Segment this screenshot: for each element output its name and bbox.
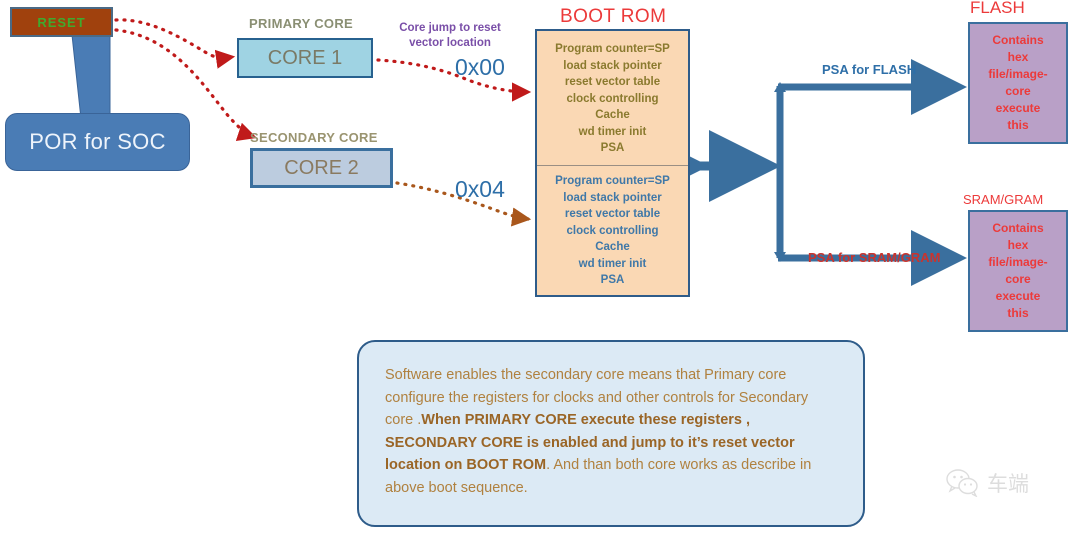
sram-box[interactable]: Contains hex file/image- core execute th… (968, 210, 1068, 332)
por-label: POR for SOC (29, 129, 166, 155)
note-text: Software enables the secondary core mean… (385, 364, 837, 499)
rom-line: reset vector table (565, 206, 660, 223)
bootrom-primary-section: Program counter=SP load stack pointer re… (537, 33, 688, 165)
core2-label: CORE 2 (284, 157, 358, 180)
bus-trunk-bottom-cap (774, 252, 786, 262)
primary-core-title: PRIMARY CORE (249, 16, 353, 31)
mem-line: Contains (992, 32, 1043, 49)
wechat-icon (946, 469, 980, 497)
mem-line: core (1005, 83, 1030, 100)
flash-box[interactable]: Contains hex file/image- core execute th… (968, 22, 1068, 144)
mem-line: file/image- (988, 254, 1047, 271)
bootrom-box[interactable]: Program counter=SP load stack pointer re… (535, 29, 690, 297)
bootrom-title: BOOT ROM (560, 6, 666, 28)
diagram-canvas: RESET POR for SOC PRIMARY CORE CORE 1 SE… (0, 0, 1080, 539)
core2-box[interactable]: CORE 2 (250, 148, 393, 188)
psa-flash-label: PSA for FLASH (822, 62, 916, 77)
mem-line: file/image- (988, 66, 1047, 83)
mem-line: this (1007, 117, 1028, 134)
rom-line: load stack pointer (563, 190, 661, 207)
rom-line: clock controlling (566, 91, 658, 108)
secondary-core-title: SECONDARY CORE (250, 130, 378, 145)
psa-sram-label: PSA for SRAM/GRAM (808, 250, 940, 265)
core1-box[interactable]: CORE 1 (237, 38, 373, 78)
sram-title: SRAM/GRAM (963, 192, 1043, 207)
mem-line: execute (996, 288, 1041, 305)
address-label-secondary: 0x04 (455, 176, 505, 203)
watermark-text: 车端 (987, 468, 1029, 498)
core1-to-bootrom-arrow (378, 60, 528, 92)
flash-title: FLASH (970, 0, 1025, 18)
por-callout[interactable]: POR for SOC (5, 113, 190, 171)
rom-line: clock controlling (566, 223, 658, 240)
mem-line: hex (1008, 49, 1029, 66)
rom-line: load stack pointer (563, 58, 661, 75)
note-box: Software enables the secondary core mean… (357, 340, 865, 527)
rom-line: wd timer init (579, 124, 647, 141)
mem-line: Contains (992, 220, 1043, 237)
mem-line: this (1007, 305, 1028, 322)
reset-to-core1-arrow (116, 20, 232, 58)
bus-trunk-top-cap (774, 82, 786, 92)
core1-label: CORE 1 (268, 47, 342, 70)
rom-line: Cache (595, 107, 630, 124)
rom-line: PSA (601, 140, 625, 157)
rom-line: wd timer init (579, 256, 647, 273)
reset-box[interactable]: RESET (10, 7, 113, 37)
mem-line: hex (1008, 237, 1029, 254)
address-label-primary: 0x00 (455, 54, 505, 81)
rom-line: Program counter=SP (555, 173, 670, 190)
core-jump-annotation: Core jump to reset vector location (396, 21, 504, 51)
rom-line: Program counter=SP (555, 41, 670, 58)
rom-line: Cache (595, 239, 630, 256)
rom-line: reset vector table (565, 74, 660, 91)
watermark: 车端 (946, 468, 1029, 498)
mem-line: core (1005, 271, 1030, 288)
mem-line: execute (996, 100, 1041, 117)
bootrom-secondary-section: Program counter=SP load stack pointer re… (537, 166, 688, 296)
rom-line: PSA (601, 272, 625, 289)
reset-label: RESET (37, 15, 85, 30)
